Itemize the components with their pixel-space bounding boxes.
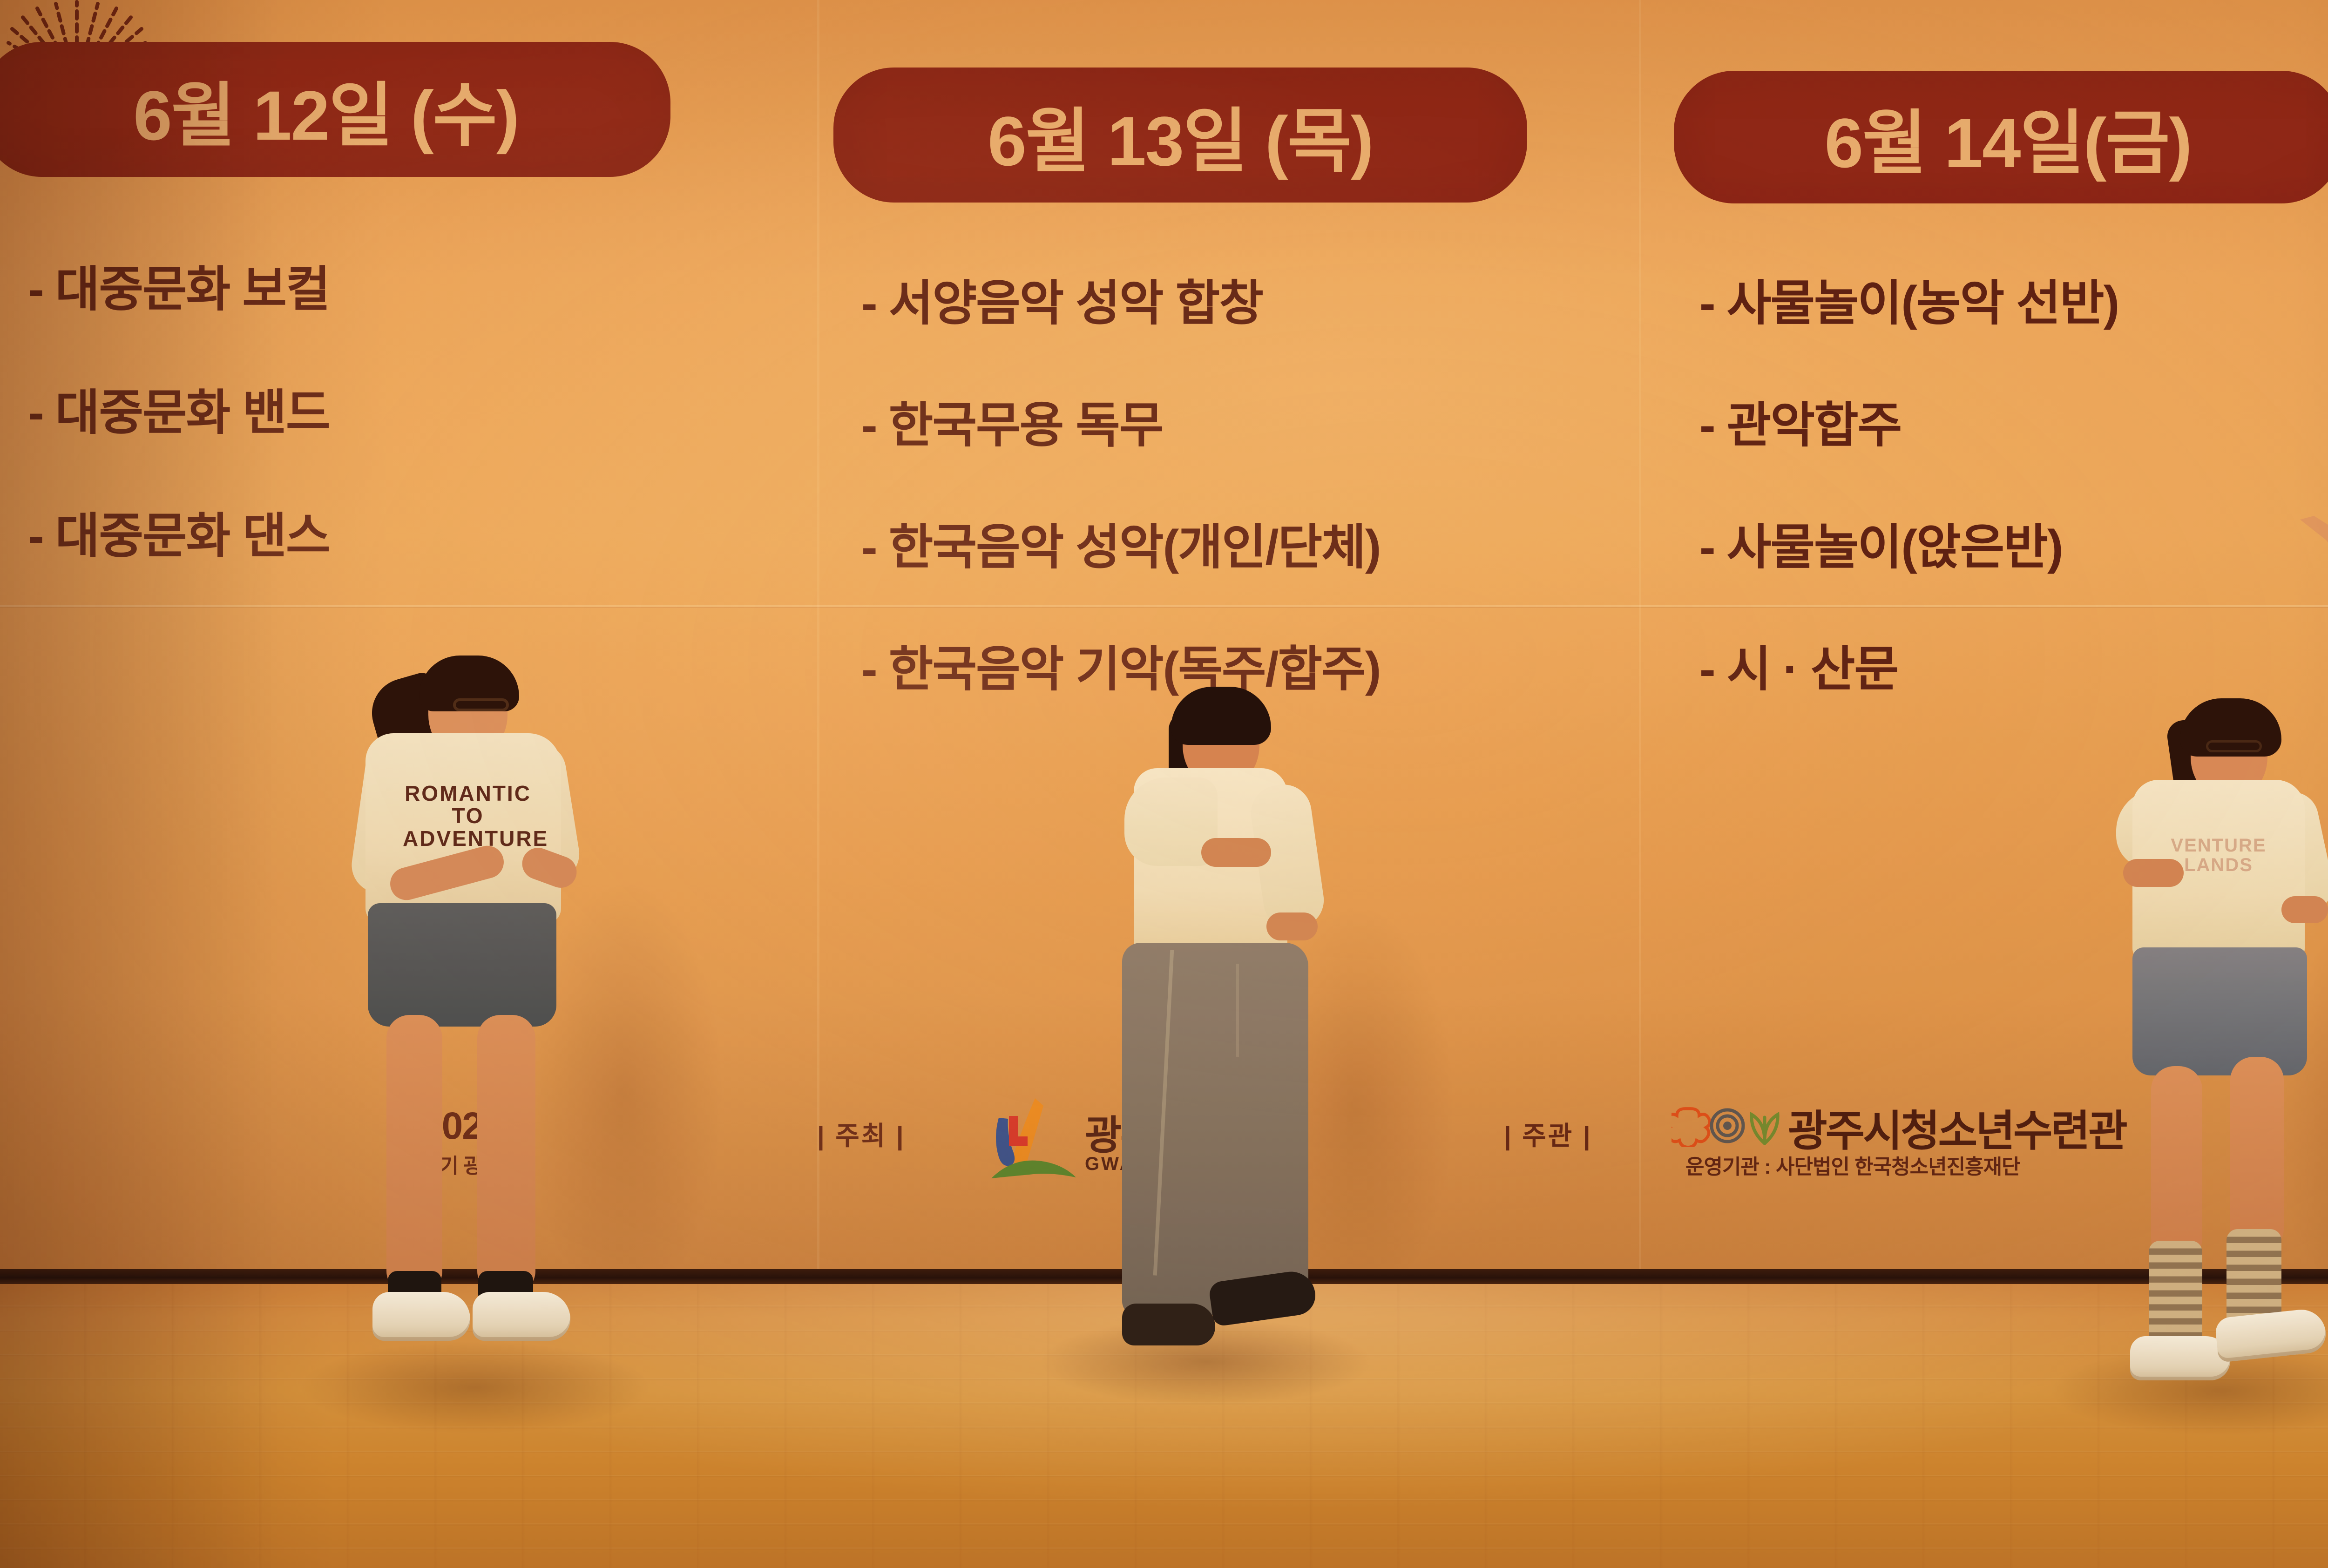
dancer-left: ROMANTIC TO ADVENTURE [333, 652, 594, 1383]
youth-center-name: 광주시청소년수련관 [1788, 1096, 2126, 1158]
program-list-day1: - 대중문화 보컬 - 대중문화 밴드 - 대중문화 댄스 [28, 265, 703, 635]
t-shirt-print-line2: TO [403, 804, 533, 827]
program-item-label: 대중문화 보컬 [55, 265, 330, 314]
bullet-dash: - [861, 645, 877, 694]
list-item: - 대중문화 보컬 [28, 265, 703, 314]
list-item: - 대중문화 밴드 [28, 389, 703, 437]
list-item: - 한국음악 성악(개인/단체) [861, 523, 1588, 572]
jeans-seam-secondary [1236, 964, 1239, 1057]
list-item: - 사물놀이(농악 선반) [1699, 279, 2328, 328]
right-leg [477, 1015, 535, 1294]
program-item-label: 대중문화 밴드 [55, 389, 330, 437]
left-knee-sock [2149, 1241, 2202, 1348]
hair [1171, 687, 1271, 745]
program-list-day3: - 사물놀이(농악 선반) - 관악합주 - 사물놀이(앉은반) - 시 · 산… [1699, 279, 2328, 767]
program-item-label: 관악합주 [1727, 401, 1902, 450]
left-leg [2151, 1066, 2202, 1262]
program-item-label: 대중문화 댄스 [55, 512, 330, 561]
glasses [2206, 740, 2262, 752]
list-item: - 대중문화 댄스 [28, 512, 703, 561]
list-item: - 서양음악 성악 합창 [861, 279, 1588, 328]
bullet-dash: - [1699, 523, 1715, 572]
right-hand [1266, 912, 1318, 940]
left-hand [1201, 838, 1271, 867]
program-item-label: 서양음악 성악 합창 [889, 279, 1263, 328]
bullet-dash: - [28, 265, 43, 314]
bullet-dash: - [1699, 279, 1715, 328]
date-pill-day2: 6월 13일 (목) [833, 68, 1527, 203]
bullet-dash: - [861, 401, 877, 450]
right-hand [2281, 896, 2328, 923]
wide-leg-jeans [1122, 943, 1308, 1315]
program-item-label: 한국무용 독무 [889, 401, 1163, 450]
date-pill-day3: 6월 14일(금) [1674, 71, 2328, 203]
dancer-center [1071, 684, 1313, 1359]
program-item-label: 한국음악 성악(개인/단체) [889, 523, 1381, 572]
program-item-label: 사물놀이(앉은반) [1727, 523, 2063, 572]
left-hand [2123, 859, 2184, 887]
left-sneaker [2130, 1336, 2230, 1380]
left-sneaker [372, 1292, 470, 1341]
list-item: - 사물놀이(앉은반) [1699, 523, 2328, 572]
glasses [453, 698, 509, 711]
list-item: - 시 · 산문 [1699, 645, 2328, 694]
dancer-right: VENTURE LANDS [2081, 698, 2328, 1378]
date-label-day2: 6월 13일 (목) [988, 85, 1373, 186]
left-leg [386, 1015, 442, 1294]
program-item-label: 사물놀이(농악 선반) [1727, 279, 2119, 328]
gwangju-city-logo-icon [985, 1092, 1083, 1185]
bullet-dash: - [28, 512, 43, 561]
t-shirt-print-line1: ROMANTIC [403, 782, 533, 804]
list-item: - 한국무용 독무 [861, 401, 1588, 450]
bullet-dash: - [1699, 645, 1715, 694]
program-item-label: 시 · 산문 [1727, 645, 1898, 694]
list-item: - 관악합주 [1699, 401, 2328, 450]
bullet-dash: - [1699, 401, 1715, 450]
youth-center-logo-icon [1672, 1104, 1783, 1147]
t-shirt-print-line3: ADVENTURE [403, 827, 533, 850]
organizer-divider-label: | 주관 | [1504, 1115, 1592, 1153]
date-label-day3: 6월 14일(금) [1825, 87, 2192, 188]
right-leg [2230, 1057, 2284, 1252]
youth-center-operator: 운영기관 : 사단법인 한국청소년진흥재단 [1685, 1150, 2020, 1180]
left-sneaker [1122, 1304, 1215, 1345]
denim-shorts [2132, 947, 2307, 1075]
date-pill-day1: 6월 12일 (수) [0, 42, 670, 177]
photo-stage-scene: 6월 12일 (수) 6월 13일 (목) 6월 14일(금) - 대중문화 보… [0, 0, 2328, 1568]
bullet-dash: - [861, 279, 877, 328]
date-label-day1: 6월 12일 (수) [133, 59, 519, 160]
host-divider-label: | 주최 | [817, 1115, 906, 1153]
shorts [368, 903, 556, 1027]
t-shirt-print: ROMANTIC TO ADVENTURE [403, 782, 533, 850]
bullet-dash: - [28, 389, 43, 437]
right-sneaker [473, 1292, 570, 1341]
t-shirt-print-line1: VENTURE [2160, 836, 2277, 855]
bullet-dash: - [861, 523, 877, 572]
